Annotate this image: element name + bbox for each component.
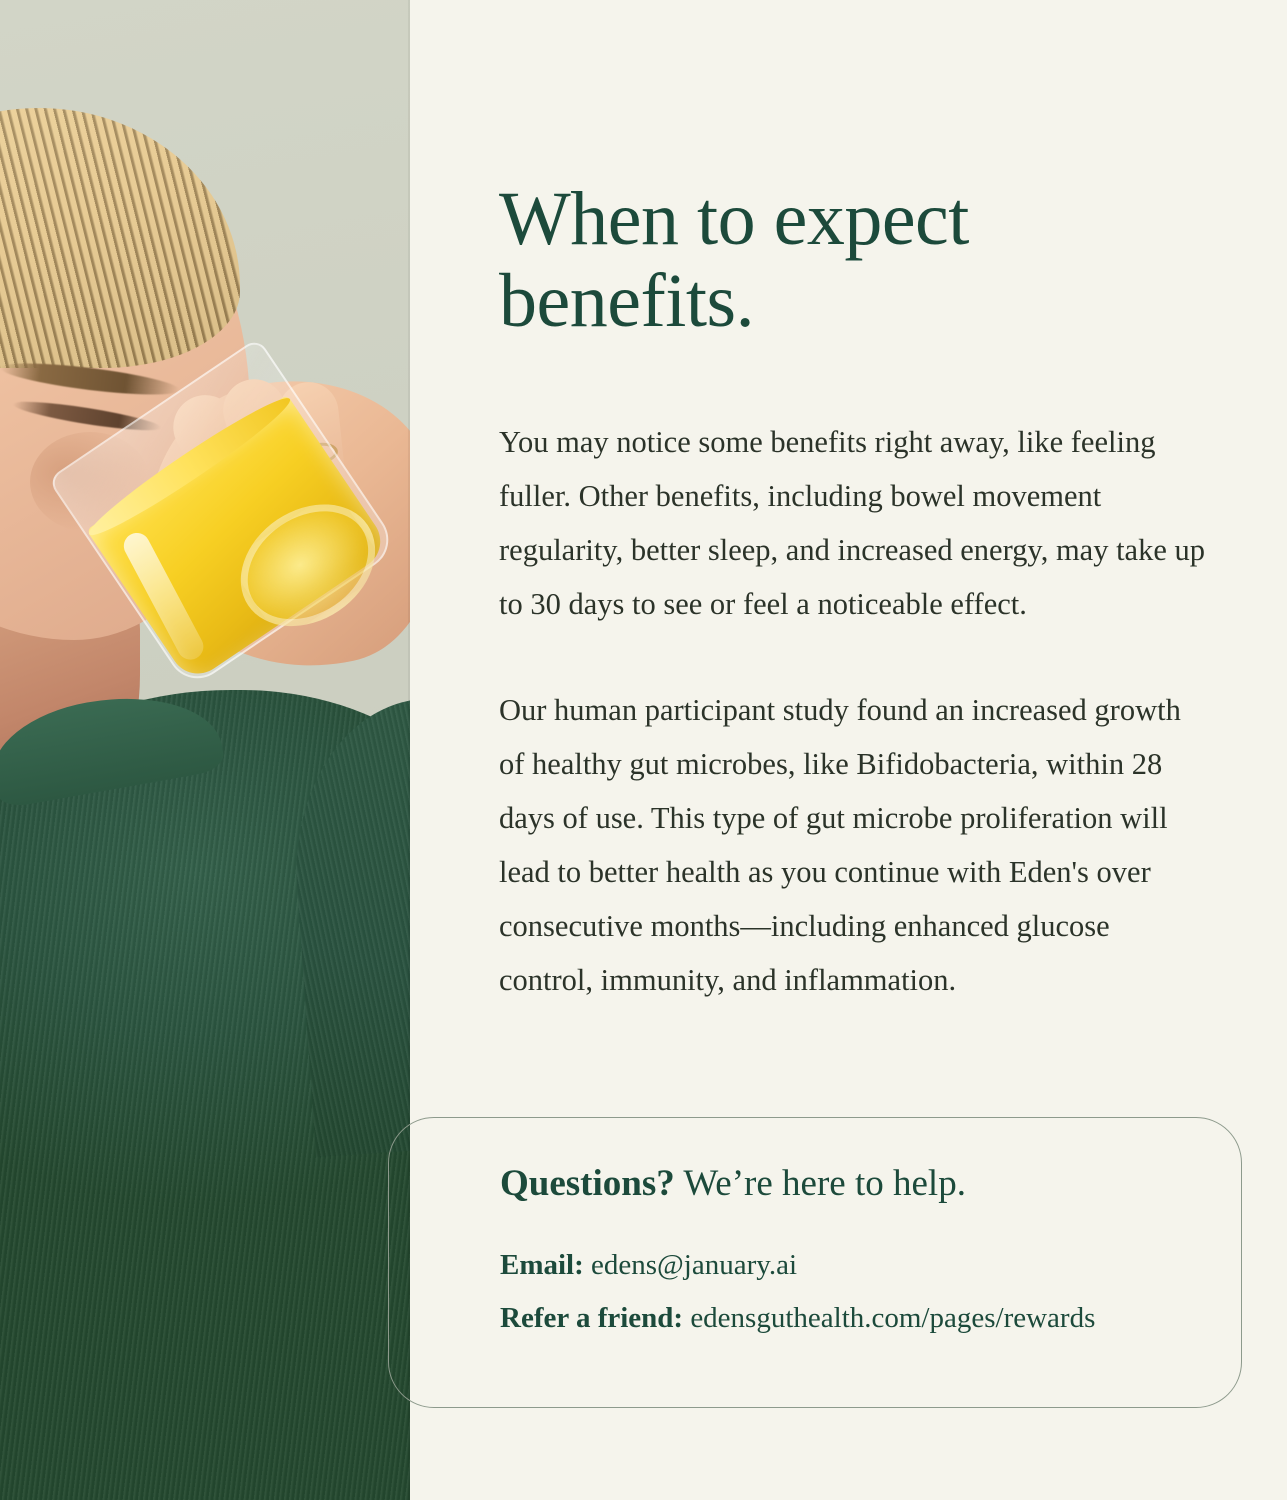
questions-label: Questions? [500,1163,675,1204]
contact-row-email: Email: edens@january.ai [500,1242,1200,1289]
referral-label: Refer a friend: [500,1302,683,1334]
email-label: Email: [500,1249,584,1281]
email-value[interactable]: edens@january.ai [591,1249,797,1281]
questions-card: Questions? We’re here to help. Email: ed… [388,1117,1242,1408]
questions-card-content: Questions? We’re here to help. Email: ed… [500,1163,1200,1348]
body-copy: You may notice some benefits right away,… [499,415,1211,1007]
marketing-insert-page: When to expect benefits. You may notice … [0,0,1287,1500]
questions-headline: Questions? We’re here to help. [500,1163,1200,1206]
questions-subtext: We’re here to help. [675,1163,966,1204]
contact-row-referral: Refer a friend: edensguthealth.com/pages… [500,1295,1200,1342]
paragraph-1: You may notice some benefits right away,… [499,415,1211,631]
paragraph-2: Our human participant study found an inc… [499,683,1211,1007]
lifestyle-photo [0,0,410,1500]
referral-value[interactable]: edensguthealth.com/pages/rewards [690,1302,1095,1334]
content-panel: When to expect benefits. You may notice … [410,0,1287,1500]
page-title: When to expect benefits. [499,178,1099,342]
